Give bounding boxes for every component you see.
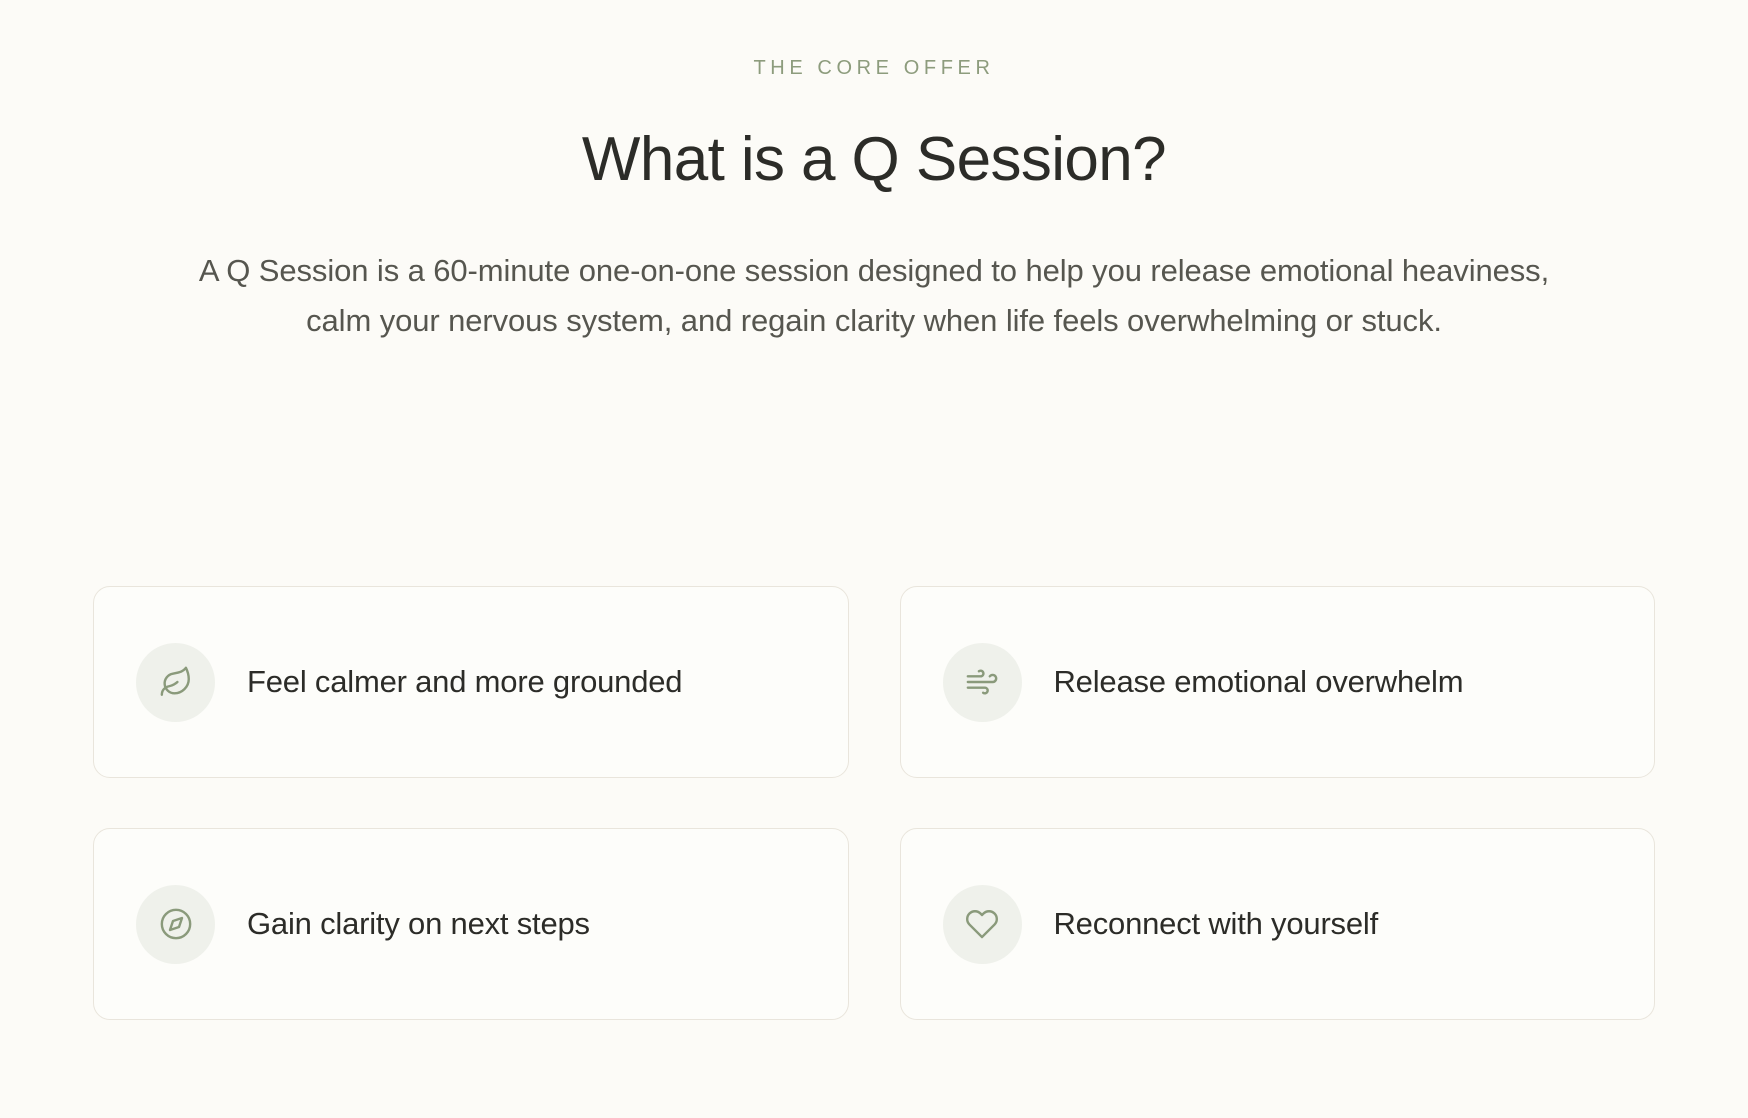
benefit-card-label: Release emotional overwhelm xyxy=(1054,663,1464,702)
benefit-card-release-overwhelm[interactable]: Release emotional overwhelm xyxy=(900,586,1656,778)
leaf-icon xyxy=(136,643,215,722)
wind-icon xyxy=(943,643,1022,722)
benefit-card-feel-calmer[interactable]: Feel calmer and more grounded xyxy=(93,586,849,778)
section-header: THE CORE OFFER What is a Q Session? A Q … xyxy=(0,0,1748,347)
benefit-card-gain-clarity[interactable]: Gain clarity on next steps xyxy=(93,828,849,1020)
benefit-card-label: Reconnect with yourself xyxy=(1054,905,1379,944)
benefits-grid: Feel calmer and more grounded Release em… xyxy=(93,586,1655,1020)
heart-icon xyxy=(943,885,1022,964)
section-eyebrow: THE CORE OFFER xyxy=(0,56,1748,80)
benefit-card-label: Gain clarity on next steps xyxy=(247,905,590,944)
page-title: What is a Q Session? xyxy=(0,80,1748,194)
section-description: A Q Session is a 60-minute one-on-one se… xyxy=(189,194,1559,346)
compass-icon xyxy=(136,885,215,964)
benefit-card-reconnect[interactable]: Reconnect with yourself xyxy=(900,828,1656,1020)
benefit-card-label: Feel calmer and more grounded xyxy=(247,663,682,702)
core-offer-section: THE CORE OFFER What is a Q Session? A Q … xyxy=(0,0,1748,1118)
